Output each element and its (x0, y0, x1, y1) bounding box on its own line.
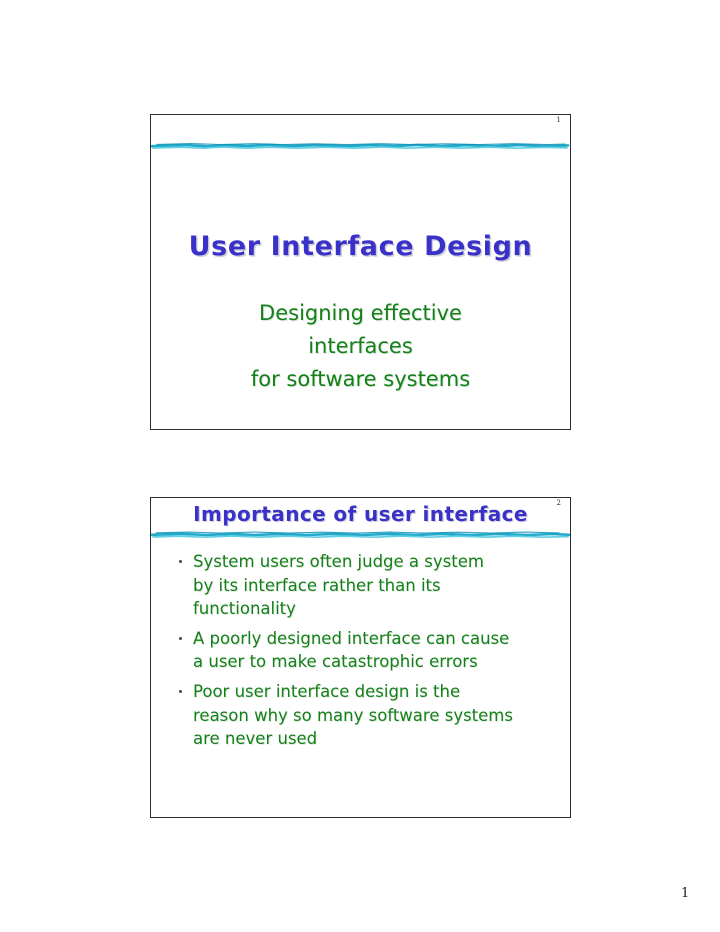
bullet-dot-icon (179, 560, 182, 563)
bullet-2-line-2: a user to make catastrophic errors (193, 650, 556, 674)
slide-1-frame[interactable]: 1 User Interface Design Designing effect… (150, 114, 571, 430)
bullet-1-line-2: by its interface rather than its (193, 574, 556, 598)
slide-2-frame[interactable]: 2 Importance of user interface System us… (150, 497, 571, 818)
slide-2-title: Importance of user interface (151, 502, 570, 526)
handout-page: 1 User Interface Design Designing effect… (0, 0, 720, 932)
subtitle-line-3: for software systems (151, 363, 570, 396)
slide-2-bullet-list: System users often judge a system by its… (175, 550, 556, 757)
bullet-1-line-3: functionality (193, 597, 556, 621)
slide-number-1: 1 (557, 117, 561, 124)
bullet-dot-icon (179, 690, 182, 693)
bullet-1-line-1: System users often judge a system (193, 550, 556, 574)
list-item: A poorly designed interface can cause a … (175, 627, 556, 674)
bullet-2-line-1: A poorly designed interface can cause (193, 627, 556, 651)
list-item: System users often judge a system by its… (175, 550, 556, 621)
bullet-3-line-2: reason why so many software systems (193, 704, 556, 728)
slide-1-subtitle: Designing effective interfaces for softw… (151, 297, 570, 397)
page-number: 1 (681, 886, 689, 901)
subtitle-line-2: interfaces (151, 330, 570, 363)
bullet-3-line-1: Poor user interface design is the (193, 680, 556, 704)
list-item: Poor user interface design is the reason… (175, 680, 556, 751)
cyan-divider-rule-slide-1 (151, 139, 570, 151)
bullet-dot-icon (179, 637, 182, 640)
cyan-divider-rule-slide-2 (151, 529, 570, 541)
bullet-3-line-3: are never used (193, 727, 556, 751)
slide-1-title: User Interface Design (151, 231, 570, 262)
subtitle-line-1: Designing effective (151, 297, 570, 330)
